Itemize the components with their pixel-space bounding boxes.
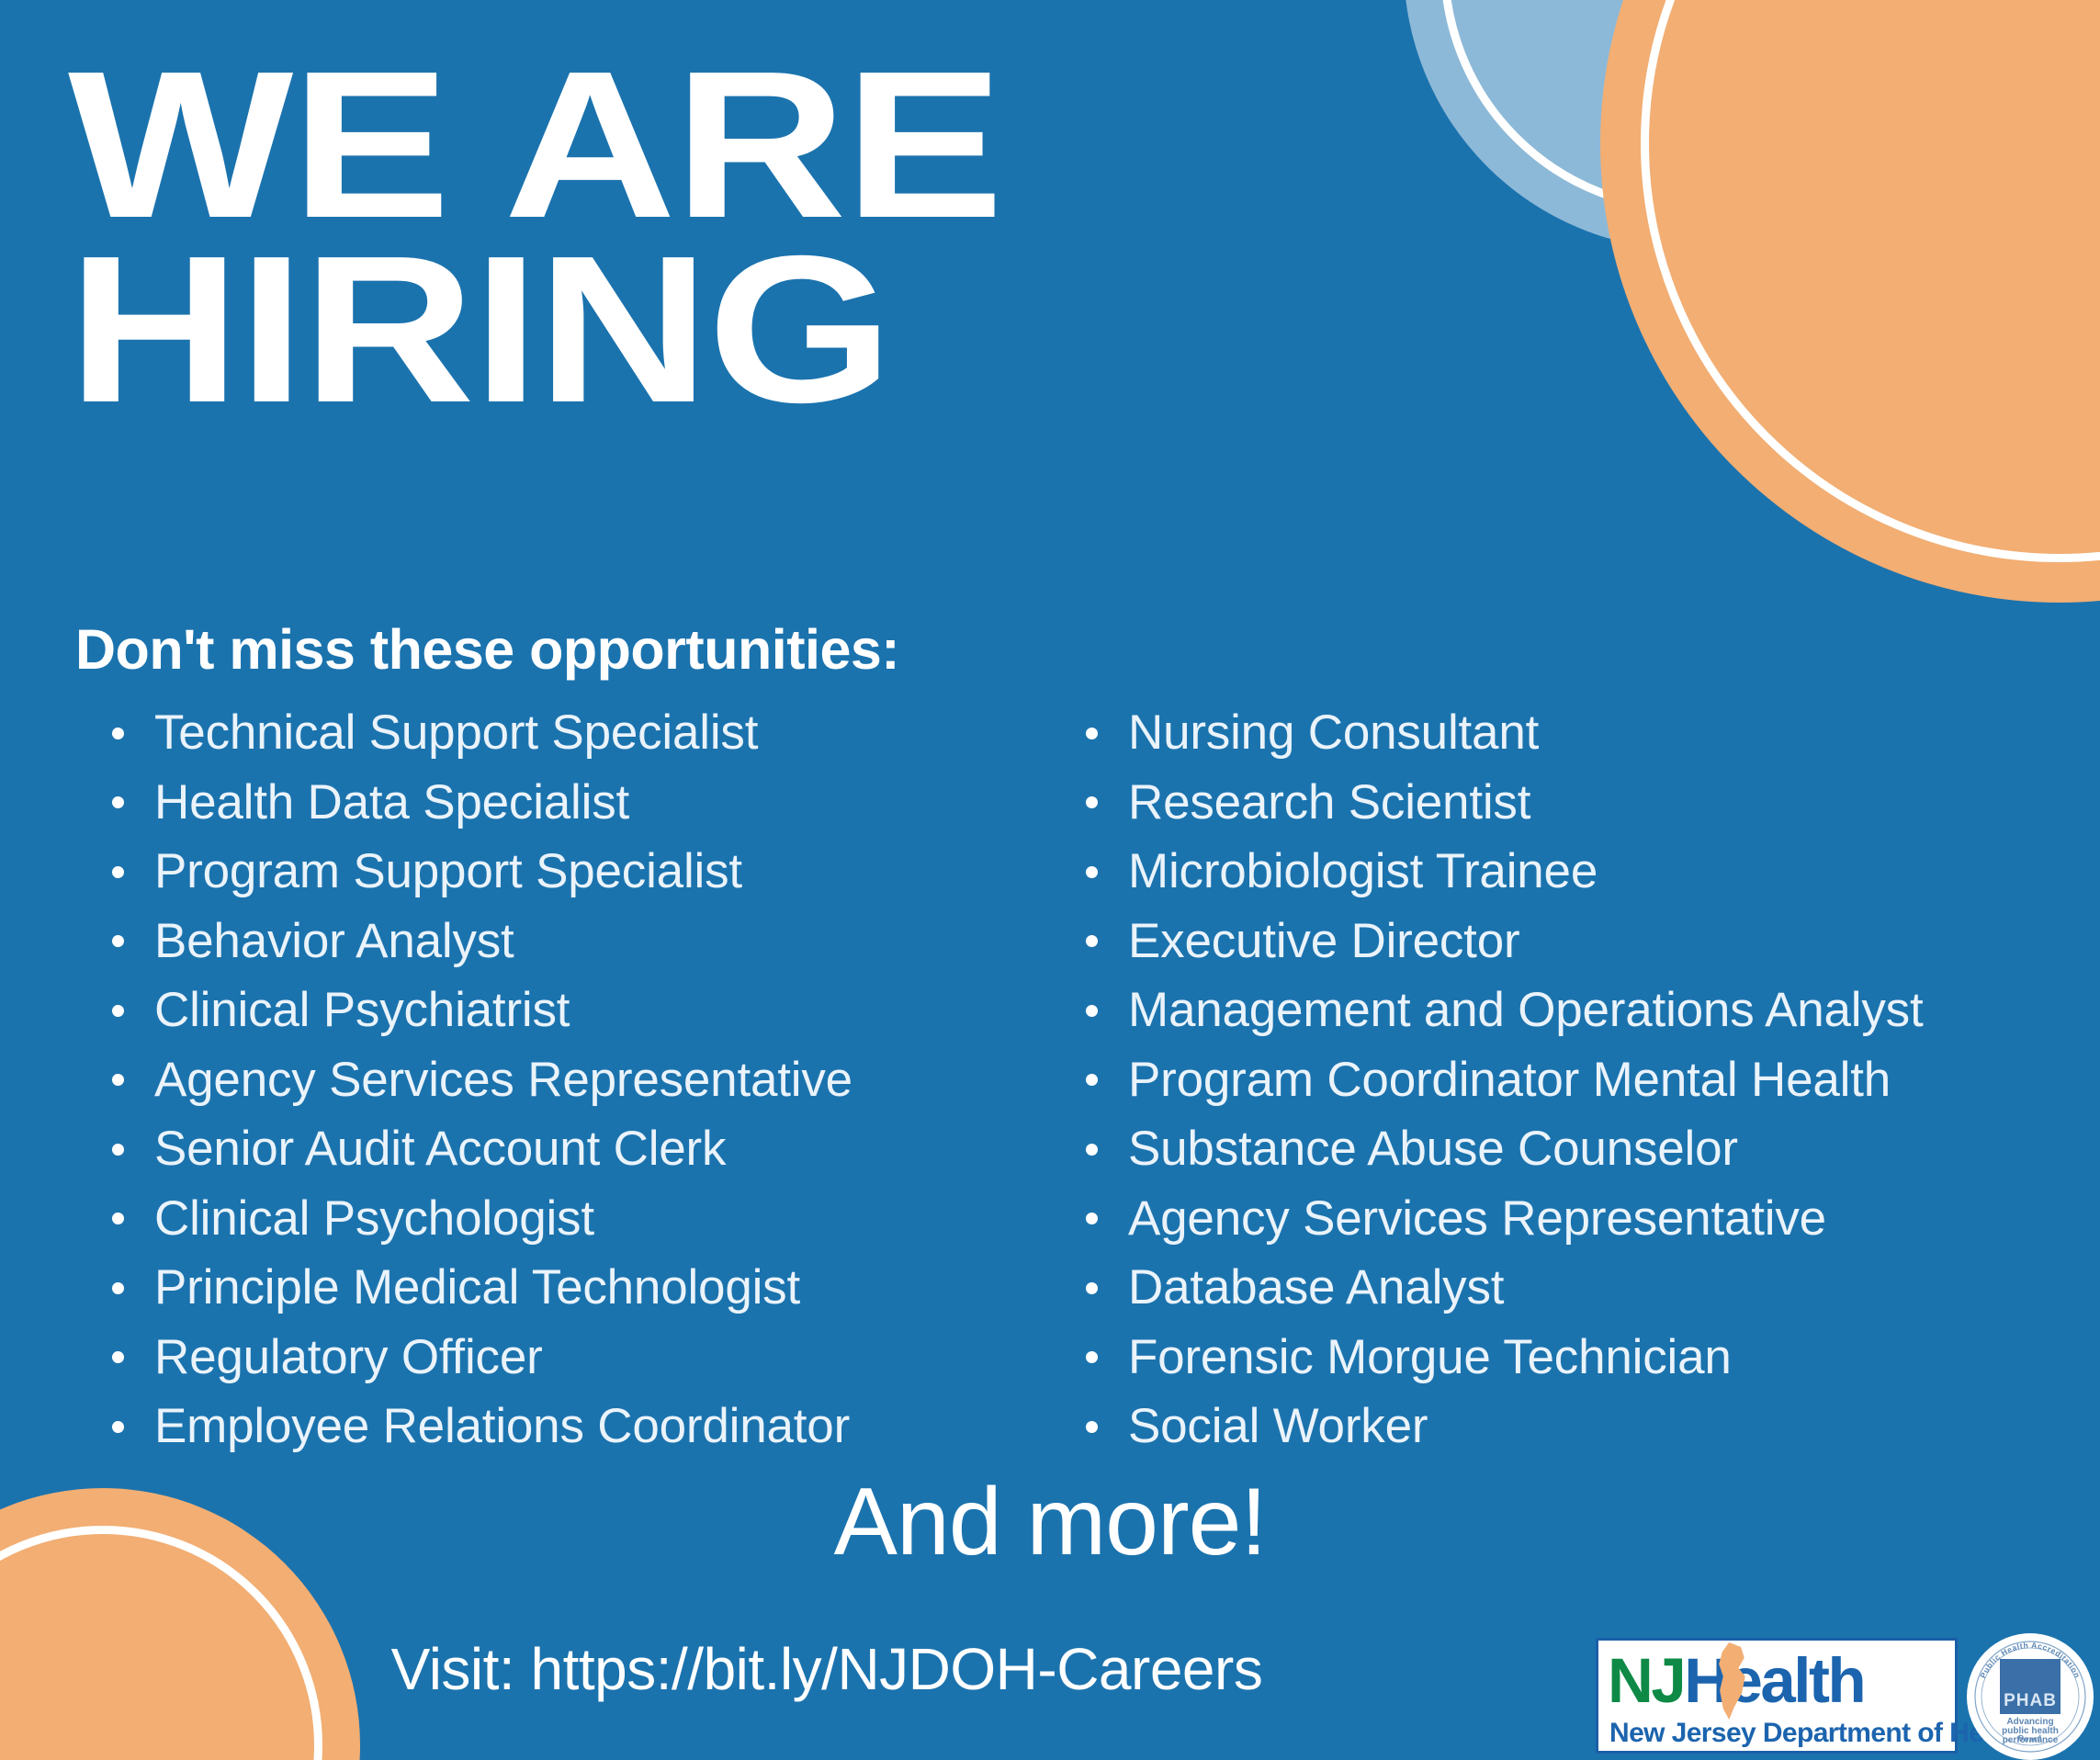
job-list: Nursing Consultant Research Scientist Mi… <box>1073 698 2093 1461</box>
list-item: Substance Abuse Counselor <box>1073 1114 2093 1184</box>
hiring-poster: WE ARE HIRING Don't miss these opportuni… <box>0 0 2100 1760</box>
job-list-right-column: Nursing Consultant Research Scientist Mi… <box>1073 698 2093 1461</box>
phab-square-mark: PHAB <box>2000 1659 2060 1714</box>
list-item: Senior Audit Account Clerk <box>99 1114 1036 1184</box>
logo-card: NJHealth New Jersey Department of Health <box>1596 1638 1958 1754</box>
page-title: WE ARE HIRING <box>68 53 1429 422</box>
list-item: Technical Support Specialist <box>99 698 1036 768</box>
list-item: Regulatory Officer <box>99 1323 1036 1393</box>
and-more-text: And more! <box>0 1468 2100 1577</box>
phab-subtext-line-3: performance <box>1967 1736 2094 1745</box>
logo-tagline: New Jersey Department of Health <box>1609 1718 1951 1749</box>
list-item: Social Worker <box>1073 1392 2093 1461</box>
job-list: Technical Support Specialist Health Data… <box>99 698 1036 1461</box>
headline-line-2: HIRING <box>68 238 1429 423</box>
list-item: Behavior Analyst <box>99 907 1036 976</box>
list-item: Health Data Specialist <box>99 768 1036 838</box>
list-item: Agency Services Representative <box>1073 1184 2093 1254</box>
list-item: Program Support Specialist <box>99 837 1036 907</box>
subtitle: Don't miss these opportunities: <box>75 617 899 682</box>
list-item: Executive Director <box>1073 907 2093 976</box>
list-item: Management and Operations Analyst <box>1073 976 2093 1045</box>
phab-accreditation-seal-icon: Public Health Accreditation Board PHAB A… <box>1967 1633 2094 1760</box>
headline-line-1: WE ARE <box>68 53 1429 238</box>
list-item: Forensic Morgue Technician <box>1073 1323 2093 1393</box>
list-item: Employee Relations Coordinator <box>99 1392 1036 1461</box>
logo-wordmark: NJHealth <box>1608 1646 1951 1716</box>
list-item: Clinical Psychologist <box>99 1184 1036 1254</box>
nj-health-logo: NJHealth New Jersey Department of Health… <box>1596 1633 2100 1760</box>
phab-label: PHAB <box>2000 1691 2060 1711</box>
list-item: Clinical Psychiatrist <box>99 976 1036 1045</box>
list-item: Program Coordinator Mental Health <box>1073 1045 2093 1115</box>
list-item: Principle Medical Technologist <box>99 1253 1036 1323</box>
list-item: Database Analyst <box>1073 1253 2093 1323</box>
job-list-left-column: Technical Support Specialist Health Data… <box>99 698 1036 1461</box>
list-item: Research Scientist <box>1073 768 2093 838</box>
logo-health-text: Health <box>1684 1645 1864 1716</box>
visit-url-text[interactable]: Visit: https://bit.ly/NJDOH-Careers <box>0 1635 1654 1703</box>
phab-subtext: Advancing public health performance <box>1967 1718 2094 1745</box>
logo-nj-text: NJ <box>1608 1645 1684 1716</box>
list-item: Agency Services Representative <box>99 1045 1036 1115</box>
list-item: Microbiologist Trainee <box>1073 837 2093 907</box>
list-item: Nursing Consultant <box>1073 698 2093 768</box>
